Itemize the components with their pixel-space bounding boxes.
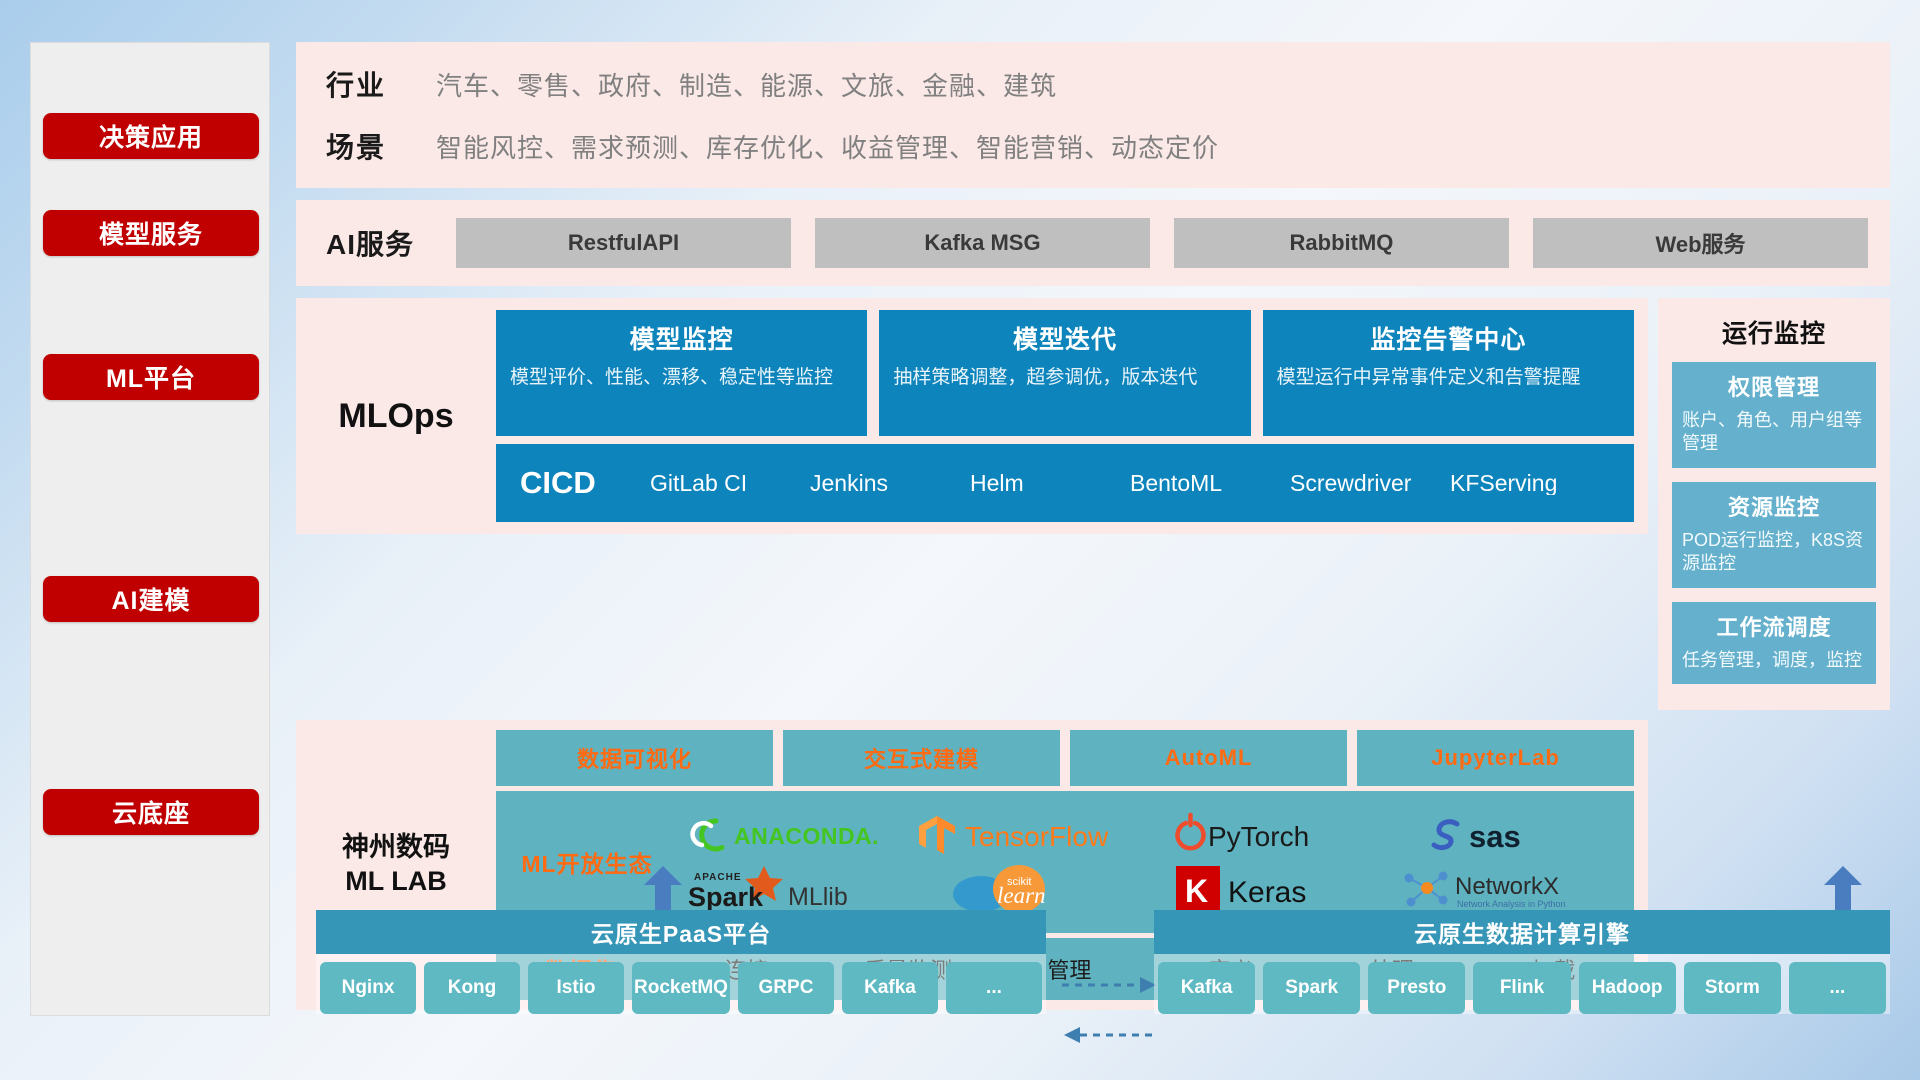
cicd-bar: CICD GitLab CI Jenkins Helm BentoML Scre… xyxy=(496,444,1634,522)
card-title: 监控告警中心 xyxy=(1277,320,1620,356)
svg-text:PyTorch: PyTorch xyxy=(1208,821,1309,852)
ml-lab-label-line1: 神州数码 xyxy=(296,831,496,865)
mlops-row: MLOps 模型监控 模型评价、性能、漂移、稳定性等监控 模型迭代 抽样策略调整… xyxy=(296,298,1890,710)
industry-value: 汽车、零售、政府、制造、能源、文旅、金融、建筑 xyxy=(436,66,1057,103)
ml-lab-tool-jupyterlab[interactable]: JupyterLab xyxy=(1357,730,1634,786)
cicd-item-helm[interactable]: Helm xyxy=(970,471,1130,495)
card-desc: 抽样策略调整，超参调优，版本迭代 xyxy=(893,365,1236,391)
dashed-arrow-right-icon xyxy=(1060,974,1160,996)
card-desc: 模型评价、性能、漂移、稳定性等监控 xyxy=(510,365,853,391)
mlops-card-model-iteration[interactable]: 模型迭代 抽样策略调整，超参调优，版本迭代 xyxy=(879,310,1250,436)
run-monitor-card-workflow[interactable]: 工作流调度 任务管理，调度，监控 xyxy=(1672,602,1876,684)
cloud-paas-group: 云原生PaaS平台 Nginx Kong Istio RocketMQ GRPC… xyxy=(316,910,1046,1014)
cicd-item-screwdriver[interactable]: Screwdriver xyxy=(1290,471,1450,495)
mlops-card-model-monitor[interactable]: 模型监控 模型评价、性能、漂移、稳定性等监控 xyxy=(496,310,867,436)
engine-chip-spark[interactable]: Spark xyxy=(1263,962,1360,1014)
engine-chip-presto[interactable]: Presto xyxy=(1368,962,1465,1014)
paas-chip-grpc[interactable]: GRPC xyxy=(738,962,834,1014)
rail-item-label: AI建模 xyxy=(111,581,190,617)
rail-item-decision-app[interactable]: 决策应用 xyxy=(43,113,259,159)
mlops-band: MLOps 模型监控 模型评价、性能、漂移、稳定性等监控 模型迭代 抽样策略调整… xyxy=(296,298,1648,534)
cicd-item-bentoml[interactable]: BentoML xyxy=(1130,471,1290,495)
pytorch-logo: PyTorch xyxy=(1166,809,1374,861)
sas-logo: sas xyxy=(1429,809,1589,861)
run-monitor-title: 运行监控 xyxy=(1672,314,1876,350)
run-monitor-panel: 运行监控 权限管理 账户、角色、用户组等管理 资源监控 POD运行监控，K8S资… xyxy=(1658,298,1890,710)
scenario-row: 场景 智能风控、需求预测、库存优化、收益管理、智能营销、动态定价 xyxy=(326,115,1890,177)
paas-chip-kong[interactable]: Kong xyxy=(424,962,520,1014)
rail-item-ml-platform[interactable]: ML平台 xyxy=(43,354,259,400)
svg-text:TensorFlow: TensorFlow xyxy=(965,821,1109,852)
cloud-engine-group: 云原生数据计算引擎 Kafka Spark Presto Flink Hadoo… xyxy=(1154,910,1890,1014)
left-rail: 决策应用 模型服务 ML平台 AI建模 云底座 xyxy=(30,42,270,1016)
paas-chip-nginx[interactable]: Nginx xyxy=(320,962,416,1014)
ai-service-label: AI服务 xyxy=(326,223,456,263)
engine-chip-kafka[interactable]: Kafka xyxy=(1158,962,1255,1014)
rail-item-model-service[interactable]: 模型服务 xyxy=(43,210,259,256)
cicd-title: CICD xyxy=(520,465,640,501)
engine-chip-hadoop[interactable]: Hadoop xyxy=(1579,962,1676,1014)
card-desc: 任务管理，调度，监控 xyxy=(1682,649,1866,672)
ai-service-chip-list: RestfulAPI Kafka MSG RabbitMQ Web服务 xyxy=(456,218,1868,268)
svg-text:sas: sas xyxy=(1469,819,1521,854)
main-column: 行业 汽车、零售、政府、制造、能源、文旅、金融、建筑 场景 智能风控、需求预测、… xyxy=(296,42,1890,1010)
ai-service-chip-rabbitmq[interactable]: RabbitMQ xyxy=(1174,218,1509,268)
rail-item-label: ML平台 xyxy=(106,359,196,395)
card-desc: 模型运行中异常事件定义和告警提醒 xyxy=(1277,365,1620,391)
tensorflow-logo: TensorFlow xyxy=(915,809,1145,861)
ai-service-band: AI服务 RestfulAPI Kafka MSG RabbitMQ Web服务 xyxy=(296,200,1890,286)
industry-row: 行业 汽车、零售、政府、制造、能源、文旅、金融、建筑 xyxy=(326,53,1890,115)
up-arrow-icon-paas xyxy=(644,866,682,910)
cicd-item-kfserving[interactable]: KFServing xyxy=(1450,471,1610,495)
card-title: 模型监控 xyxy=(510,320,853,356)
card-desc: POD运行监控，K8S资源监控 xyxy=(1682,529,1866,576)
card-title: 工作流调度 xyxy=(1682,610,1866,642)
dashed-arrow-left-icon xyxy=(1060,1024,1160,1046)
industry-label: 行业 xyxy=(326,64,436,104)
ai-service-chip-restfulapi[interactable]: RestfulAPI xyxy=(456,218,791,268)
paas-chip-rocketmq[interactable]: RocketMQ xyxy=(632,962,730,1014)
scenario-label: 场景 xyxy=(326,126,436,166)
anaconda-logo: ANACONDA. xyxy=(686,809,896,861)
rail-item-label: 云底座 xyxy=(112,794,190,830)
engine-chip-storm[interactable]: Storm xyxy=(1684,962,1781,1014)
rail-item-cloud-base[interactable]: 云底座 xyxy=(43,789,259,835)
card-title: 权限管理 xyxy=(1682,370,1866,402)
industry-scenario-band: 行业 汽车、零售、政府、制造、能源、文旅、金融、建筑 场景 智能风控、需求预测、… xyxy=(296,42,1890,188)
card-title: 模型迭代 xyxy=(893,320,1236,356)
ai-service-chip-web[interactable]: Web服务 xyxy=(1533,218,1868,268)
paas-chip-istio[interactable]: Istio xyxy=(528,962,624,1014)
cloud-foundation-section: 云原生PaaS平台 Nginx Kong Istio RocketMQ GRPC… xyxy=(296,882,1890,1032)
cicd-item-jenkins[interactable]: Jenkins xyxy=(810,471,970,495)
up-arrow-icon-engine xyxy=(1824,866,1862,910)
svg-text:ANACONDA.: ANACONDA. xyxy=(734,823,879,849)
card-desc: 账户、角色、用户组等管理 xyxy=(1682,409,1866,456)
card-title: 资源监控 xyxy=(1682,490,1866,522)
rail-item-label: 决策应用 xyxy=(99,118,203,154)
paas-chip-more[interactable]: ... xyxy=(946,962,1042,1014)
mlops-label: MLOps xyxy=(296,397,496,436)
rail-item-label: 模型服务 xyxy=(99,215,203,251)
scenario-value: 智能风控、需求预测、库存优化、收益管理、智能营销、动态定价 xyxy=(436,128,1219,165)
ml-lab-tool-interactive-modeling[interactable]: 交互式建模 xyxy=(783,730,1060,786)
rail-item-ai-modeling[interactable]: AI建模 xyxy=(43,576,259,622)
mlops-card-alert-center[interactable]: 监控告警中心 模型运行中异常事件定义和告警提醒 xyxy=(1263,310,1634,436)
ml-lab-tool-list: 数据可视化 交互式建模 AutoML JupyterLab xyxy=(496,730,1634,786)
ai-service-chip-kafka-msg[interactable]: Kafka MSG xyxy=(815,218,1150,268)
run-monitor-card-resource[interactable]: 资源监控 POD运行监控，K8S资源监控 xyxy=(1672,482,1876,588)
run-monitor-card-permission[interactable]: 权限管理 账户、角色、用户组等管理 xyxy=(1672,362,1876,468)
ml-lab-tool-data-viz[interactable]: 数据可视化 xyxy=(496,730,773,786)
ml-lab-tool-automl[interactable]: AutoML xyxy=(1070,730,1347,786)
cicd-item-gitlab-ci[interactable]: GitLab CI xyxy=(650,471,810,495)
engine-chip-flink[interactable]: Flink xyxy=(1473,962,1570,1014)
engine-chip-more[interactable]: ... xyxy=(1789,962,1886,1014)
cloud-engine-title: 云原生数据计算引擎 xyxy=(1154,910,1890,954)
paas-chip-kafka[interactable]: Kafka xyxy=(842,962,938,1014)
cloud-paas-title: 云原生PaaS平台 xyxy=(316,910,1046,954)
